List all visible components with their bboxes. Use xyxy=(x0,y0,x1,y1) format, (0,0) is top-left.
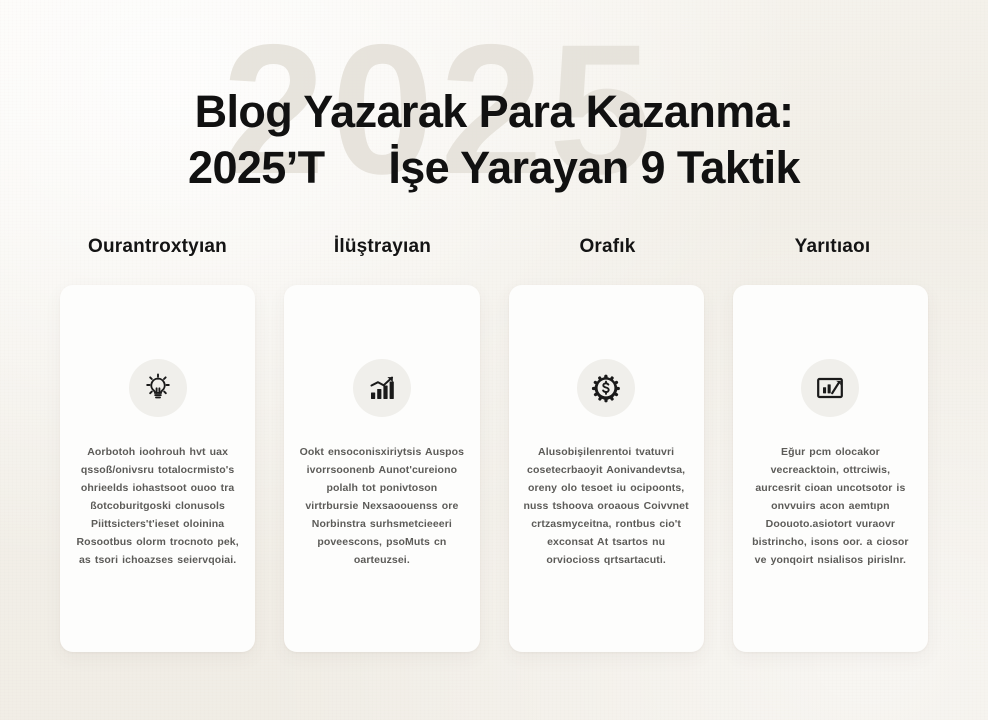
bar-chart-growth-icon xyxy=(353,359,411,417)
content-card-1[interactable]: Aorbotoh ioohrouh hvt uax qssoß/onivsru … xyxy=(60,285,255,652)
column-header-3: Orafık xyxy=(495,236,720,258)
chart-frame-arrow-icon xyxy=(801,359,859,417)
column-header-1: Ourantroxtyıan xyxy=(45,236,270,258)
poster-canvas: 2025 Blog Yazarak Para Kazanma: 2025’T İ… xyxy=(0,0,988,720)
column-header-4: Yarıtıaoı xyxy=(720,236,945,258)
card-row: Aorbotoh ioohrouh hvt uax qssoß/onivsru … xyxy=(60,285,928,652)
title-line-2: 2025’T İşe Yarayan 9 Taktik xyxy=(0,144,988,192)
card-body-2: Ookt ensoconisxiriytsis Auspos ivorrsoon… xyxy=(298,443,465,569)
content-card-4[interactable]: Eğur pcm olocakor vecreacktoin, ottrciwi… xyxy=(733,285,928,652)
column-header-2: İlüştrayıan xyxy=(270,236,495,258)
title-year-token: 2025’T xyxy=(188,142,325,193)
card-body-1: Aorbotoh ioohrouh hvt uax qssoß/onivsru … xyxy=(74,443,241,569)
title-line-1: Blog Yazarak Para Kazanma: xyxy=(0,88,988,136)
lightbulb-icon xyxy=(129,359,187,417)
content-card-2[interactable]: Ookt ensoconisxiriytsis Auspos ivorrsoon… xyxy=(284,285,479,652)
title-tail-token: İşe Yarayan 9 Taktik xyxy=(388,142,800,193)
content-card-3[interactable]: Alusobişilenrentoi tvatuvri cosetecrbaoy… xyxy=(509,285,704,652)
dollar-gear-icon xyxy=(577,359,635,417)
card-body-4: Eğur pcm olocakor vecreacktoin, ottrciwi… xyxy=(747,443,914,569)
page-title: Blog Yazarak Para Kazanma: 2025’T İşe Ya… xyxy=(0,88,988,191)
column-header-row: Ourantroxtyıan İlüştrayıan Orafık Yarıtı… xyxy=(0,236,988,258)
card-body-3: Alusobişilenrentoi tvatuvri cosetecrbaoy… xyxy=(523,443,690,569)
